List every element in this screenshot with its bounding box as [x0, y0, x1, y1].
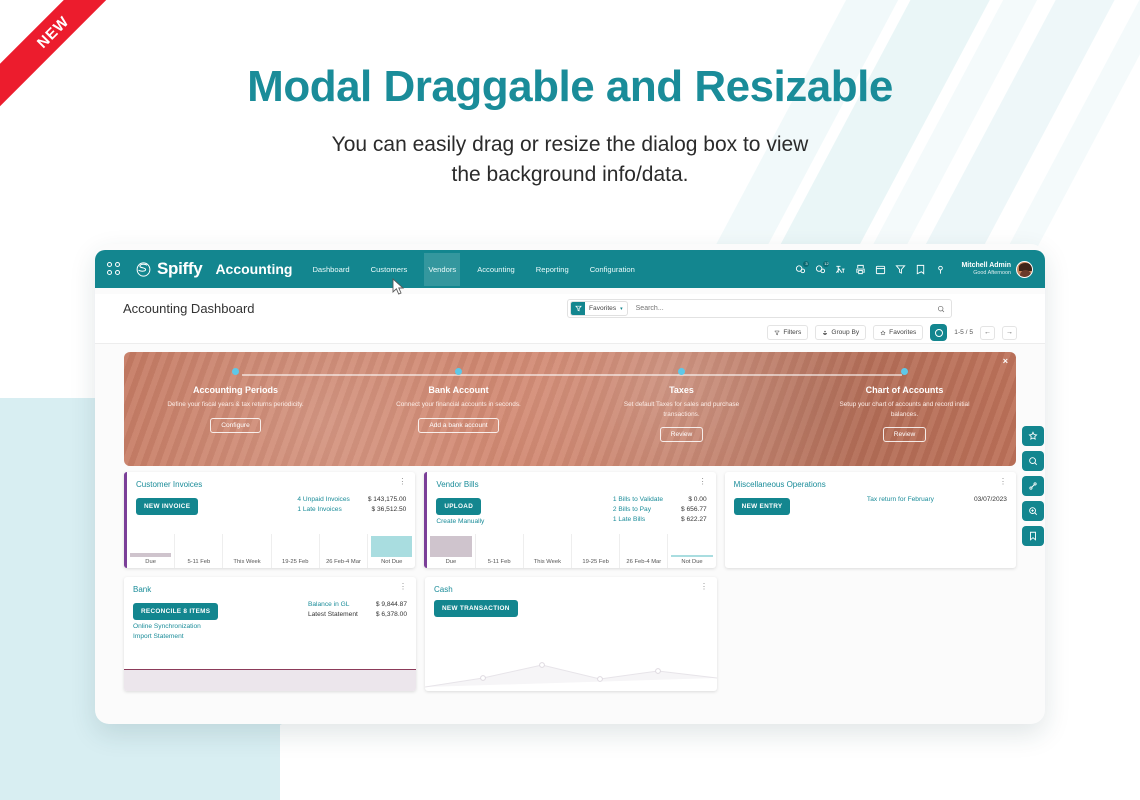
bar-label: Not Due — [381, 557, 402, 568]
filters-button[interactable]: Filters — [767, 325, 808, 340]
bar-label: 19-25 Feb — [282, 557, 308, 568]
subtitle-line-2: the background info/data. — [0, 160, 1140, 190]
stat-label[interactable]: 1 Late Bills — [613, 515, 663, 525]
import-statement-link[interactable]: Import Statement — [133, 633, 218, 640]
step-description: Define your fiscal years & tax returns p… — [166, 400, 306, 410]
bar-column: 5-11 Feb — [175, 534, 223, 568]
online-synchronization-link[interactable]: Online Synchronization — [133, 623, 218, 630]
vendor-bills-bar-chart: Due 5-11 Feb This Week 19-25 Feb 26 Feb-… — [427, 534, 715, 568]
step-description: Setup your chart of accounts and record … — [835, 400, 975, 419]
step-title: Chart of Accounts — [866, 385, 944, 395]
step-title: Taxes — [669, 385, 694, 395]
card-body: UPLOAD Create Manually 1 Bills to Valida… — [427, 489, 715, 526]
onboarding-step-bank-account: Bank Account Connect your financial acco… — [347, 352, 570, 466]
bar-label: This Week — [233, 557, 260, 568]
pager-count: 1-5 / 5 — [954, 329, 973, 336]
pager-prev-button[interactable]: ← — [980, 326, 995, 340]
chevron-down-icon[interactable]: ▾ — [620, 306, 627, 312]
card-stats: Tax return for February 03/07/2023 — [867, 495, 1007, 515]
card-body: NEW ENTRY Tax return for February 03/07/… — [725, 489, 1016, 515]
add-bank-account-button[interactable]: Add a bank account — [418, 418, 498, 433]
reconcile-items-button[interactable]: RECONCILE 8 ITEMS — [133, 603, 218, 620]
stat-values: $ 9,844.87 $ 6,378.00 — [376, 600, 407, 640]
card-title: Bank — [133, 585, 151, 594]
dashboard-cards: Customer Invoices ⋮ NEW INVOICE 4 Unpaid… — [124, 472, 1016, 700]
search-bar[interactable]: Favorites ▾ — [567, 299, 952, 318]
filter-funnel-icon[interactable] — [895, 264, 906, 275]
onboarding-step-chart-of-accounts: Chart of Accounts Setup your chart of ac… — [793, 352, 1016, 466]
stat-labels: Tax return for February — [867, 495, 934, 515]
search-icon[interactable] — [931, 305, 951, 313]
location-pin-icon[interactable] — [935, 264, 946, 275]
user-menu[interactable]: Mitchell Admin Good Afternoon — [961, 261, 1033, 278]
stat-value: 03/07/2023 — [974, 495, 1007, 505]
card-stats: Balance in GL Latest Statement $ 9,844.8… — [308, 600, 407, 640]
card-stats: 4 Unpaid Invoices 1 Late Invoices $ 143,… — [297, 495, 406, 515]
bar-column: 26 Feb-4 Mar — [620, 534, 668, 568]
stat-label[interactable]: 1 Bills to Validate — [613, 495, 663, 505]
stat-value: $ 622.27 — [681, 515, 707, 525]
upload-button[interactable]: UPLOAD — [436, 498, 481, 515]
new-ribbon: NEW — [0, 0, 112, 112]
card-title: Cash — [434, 585, 453, 594]
page-subtitle: You can easily drag or resize the dialog… — [0, 130, 1140, 191]
kanban-circle-icon[interactable] — [930, 324, 947, 341]
review-accounts-button[interactable]: Review — [883, 427, 927, 442]
translate-icon[interactable] — [835, 264, 846, 275]
bar-column: This Week — [223, 534, 271, 568]
bar-column: Due — [127, 534, 175, 568]
bar-label: 26 Feb-4 Mar — [626, 557, 661, 568]
user-greeting: Good Afternoon — [961, 270, 1011, 276]
card-row-1: Customer Invoices ⋮ NEW INVOICE 4 Unpaid… — [124, 472, 1016, 568]
onboarding-steps: Accounting Periods Define your fiscal ye… — [124, 352, 1016, 466]
nav-menu: Dashboard Customers Vendors Accounting R… — [308, 253, 638, 286]
new-ribbon-label: NEW — [0, 0, 112, 110]
kebab-menu-icon[interactable]: ⋮ — [700, 585, 708, 590]
stat-labels: 1 Bills to Validate 2 Bills to Pay 1 Lat… — [613, 495, 663, 526]
stat-value: $ 656.77 — [681, 505, 707, 515]
new-invoice-button[interactable]: NEW INVOICE — [136, 498, 198, 515]
stat-value: $ 143,175.00 — [368, 495, 407, 505]
card-header: Customer Invoices ⋮ — [127, 472, 415, 489]
card-title: Miscellaneous Operations — [734, 480, 826, 489]
review-taxes-button[interactable]: Review — [660, 427, 704, 442]
step-dot-icon — [901, 368, 908, 375]
stat-value: $ 6,378.00 — [376, 610, 407, 620]
search-facet-label: Favorites — [585, 305, 620, 312]
group-by-button[interactable]: Group By — [815, 325, 866, 340]
calendar-icon[interactable] — [875, 264, 886, 275]
stat-labels: Balance in GL Latest Statement — [308, 600, 358, 640]
mouse-cursor-icon — [392, 278, 406, 296]
search-icon[interactable] — [1022, 451, 1044, 471]
bar-label: Not Due — [681, 557, 702, 568]
card-misc-operations[interactable]: Miscellaneous Operations ⋮ NEW ENTRY Tax… — [725, 472, 1016, 568]
print-icon[interactable] — [855, 264, 866, 275]
card-body: NEW TRANSACTION — [425, 594, 717, 617]
step-title: Accounting Periods — [193, 385, 278, 395]
bar-label: This Week — [534, 557, 561, 568]
nav-item-dashboard[interactable]: Dashboard — [308, 253, 353, 286]
user-text: Mitchell Admin Good Afternoon — [961, 262, 1011, 276]
activity-badge: 12 — [823, 261, 829, 267]
filters-label: Filters — [783, 329, 801, 336]
breadcrumb: Accounting Dashboard — [123, 301, 255, 316]
app-name: Accounting — [215, 261, 292, 277]
create-manually-link[interactable]: Create Manually — [436, 518, 484, 525]
star-icon[interactable] — [1022, 426, 1044, 446]
link-icon[interactable] — [1022, 476, 1044, 496]
kebab-menu-icon[interactable]: ⋮ — [398, 480, 406, 485]
search-input[interactable] — [628, 305, 931, 312]
card-stats: 1 Bills to Validate 2 Bills to Pay 1 Lat… — [613, 495, 707, 526]
brand-name: Spiffy — [157, 259, 202, 279]
card-body: RECONCILE 8 ITEMS Online Synchronization… — [124, 594, 416, 640]
view-controls: Filters Group By Favorites 1-5 / 5 ← → — [767, 324, 1017, 341]
bar-label: 5-11 Feb — [187, 557, 210, 568]
stat-label[interactable]: Tax return for February — [867, 495, 934, 505]
bar-label: Due — [145, 557, 156, 568]
cash-line-chart — [425, 647, 717, 691]
stat-values: $ 0.00 $ 656.77 $ 622.27 — [681, 495, 707, 526]
bar-column: Not Due — [368, 534, 415, 568]
zoom-search-icon[interactable] — [1022, 501, 1044, 521]
close-icon[interactable]: × — [1003, 356, 1008, 366]
card-title: Customer Invoices — [136, 480, 202, 489]
kebab-menu-icon[interactable]: ⋮ — [999, 480, 1007, 485]
kebab-menu-icon[interactable]: ⋮ — [699, 480, 707, 485]
user-name: Mitchell Admin — [961, 262, 1011, 270]
nav-icon-tray: 3 12 — [795, 261, 1033, 278]
stat-labels: 4 Unpaid Invoices 1 Late Invoices — [297, 495, 349, 515]
bar-label: 5-11 Feb — [488, 557, 511, 568]
card-header: Cash ⋮ — [425, 577, 717, 594]
control-panel: Accounting Dashboard Favorites ▾ Fil — [95, 294, 1045, 344]
onboarding-step-taxes: Taxes Set default Taxes for sales and pu… — [570, 352, 793, 466]
group-by-label: Group By — [831, 329, 859, 336]
card-bank[interactable]: Bank ⋮ RECONCILE 8 ITEMS Online Synchron… — [124, 577, 416, 691]
bar-column: 19-25 Feb — [572, 534, 620, 568]
stat-value: $ 9,844.87 — [376, 600, 407, 610]
new-transaction-button[interactable]: NEW TRANSACTION — [434, 600, 518, 617]
pager-next-button[interactable]: → — [1002, 326, 1017, 340]
stat-value: $ 36,512.50 — [368, 505, 407, 515]
step-title: Bank Account — [428, 385, 488, 395]
bar-column: 26 Feb-4 Mar — [320, 534, 368, 568]
card-cash[interactable]: Cash ⋮ NEW TRANSACTION — [425, 577, 717, 691]
stat-label[interactable]: 1 Late Invoices — [297, 505, 349, 515]
onboarding-step-accounting-periods: Accounting Periods Define your fiscal ye… — [124, 352, 347, 466]
bar-label: Due — [446, 557, 457, 568]
messages-badge: 3 — [803, 261, 809, 267]
app-navbar: Spiffy Accounting Dashboard Customers Ve… — [95, 250, 1045, 288]
step-dot-icon — [678, 368, 685, 375]
bar-label: 19-25 Feb — [582, 557, 608, 568]
stat-label[interactable]: Balance in GL — [308, 600, 358, 610]
bookmark-icon[interactable] — [1022, 526, 1044, 546]
messages-icon[interactable]: 3 — [795, 264, 806, 275]
bank-chart-footer — [124, 669, 416, 691]
search-facet-favorites[interactable]: Favorites ▾ — [570, 301, 628, 316]
bar-column: 19-25 Feb — [272, 534, 320, 568]
bar-column: Not Due — [668, 534, 715, 568]
step-dot-icon — [455, 368, 462, 375]
stat-label[interactable]: 2 Bills to Pay — [613, 505, 663, 515]
card-body: NEW INVOICE 4 Unpaid Invoices 1 Late Inv… — [127, 489, 415, 515]
page-title: Modal Draggable and Resizable — [0, 62, 1140, 112]
stat-value: $ 0.00 — [681, 495, 707, 505]
nav-item-vendors[interactable]: Vendors — [424, 253, 460, 286]
nav-item-accounting[interactable]: Accounting — [473, 253, 519, 286]
step-description: Connect your financial accounts in secon… — [389, 400, 529, 410]
funnel-icon — [571, 301, 585, 316]
stat-values: 03/07/2023 — [974, 495, 1007, 515]
bar-column: Due — [427, 534, 475, 568]
card-header: Bank ⋮ — [124, 577, 416, 594]
note-icon[interactable] — [915, 264, 926, 275]
kebab-menu-icon[interactable]: ⋮ — [399, 585, 407, 590]
favorites-button[interactable]: Favorites — [873, 325, 923, 340]
onboarding-banner: × Accounting Periods Define your fiscal … — [124, 352, 1016, 466]
stat-label: Latest Statement — [308, 610, 358, 620]
spiffy-logo-icon[interactable] — [135, 261, 152, 278]
bar-column: This Week — [524, 534, 572, 568]
promo-page: NEW Modal Draggable and Resizable You ca… — [0, 0, 1140, 800]
step-description: Set default Taxes for sales and purchase… — [612, 400, 752, 419]
avatar[interactable] — [1016, 261, 1033, 278]
card-customer-invoices[interactable]: Customer Invoices ⋮ NEW INVOICE 4 Unpaid… — [124, 472, 415, 568]
card-vendor-bills[interactable]: Vendor Bills ⋮ UPLOAD Create Manually 1 … — [424, 472, 715, 568]
bar-column: 5-11 Feb — [476, 534, 524, 568]
card-row-2: Bank ⋮ RECONCILE 8 ITEMS Online Synchron… — [124, 577, 1016, 691]
customer-invoices-bar-chart: Due 5-11 Feb This Week 19-25 Feb 26 Feb-… — [127, 534, 415, 568]
subtitle-line-1: You can easily drag or resize the dialog… — [0, 130, 1140, 160]
step-dot-icon — [232, 368, 239, 375]
favorites-label: Favorites — [889, 329, 916, 336]
card-title: Vendor Bills — [436, 480, 478, 489]
apps-grid-icon[interactable] — [107, 262, 121, 276]
nav-item-reporting[interactable]: Reporting — [532, 253, 573, 286]
stat-values: $ 143,175.00 $ 36,512.50 — [368, 495, 407, 515]
side-tab-strip — [1022, 426, 1044, 546]
card-header: Miscellaneous Operations ⋮ — [725, 472, 1016, 489]
configure-button[interactable]: Configure — [210, 418, 261, 433]
activity-icon[interactable]: 12 — [815, 264, 826, 275]
card-header: Vendor Bills ⋮ — [427, 472, 715, 489]
app-screenshot: Spiffy Accounting Dashboard Customers Ve… — [95, 244, 1045, 724]
bar-label: 26 Feb-4 Mar — [326, 557, 361, 568]
nav-item-configuration[interactable]: Configuration — [586, 253, 639, 286]
new-entry-button[interactable]: NEW ENTRY — [734, 498, 791, 515]
stat-label[interactable]: 4 Unpaid Invoices — [297, 495, 349, 505]
